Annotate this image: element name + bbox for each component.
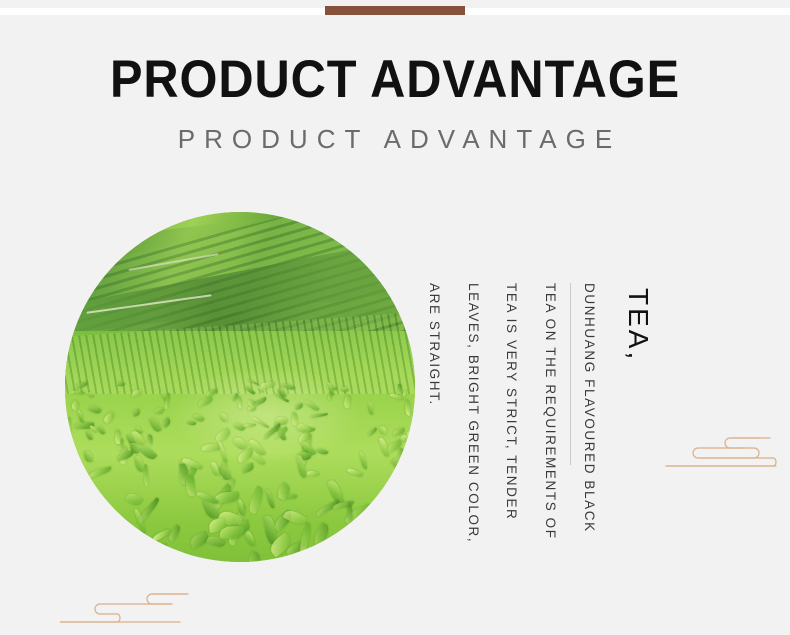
page-subtitle: PRODUCT ADVANTAGE: [0, 122, 790, 156]
top-band: [0, 0, 790, 22]
cloud-ornament-bottom-left: [60, 588, 192, 630]
tea-plantation-photo: [65, 212, 415, 562]
vertical-divider: [570, 283, 571, 465]
vertical-line-2: TEA ON THE REQUIREMENTS OF: [543, 283, 558, 540]
vertical-line-5: ARE STRAIGHT.: [427, 283, 442, 406]
vertical-heading-tea: TEA,: [622, 288, 654, 362]
vertical-line-4: LEAVES, BRIGHT GREEN COLOR,: [466, 283, 481, 543]
photo-leaf: [398, 384, 402, 394]
photo-leaf: [291, 412, 298, 426]
vertical-line-3: TEA IS VERY STRICT, TENDER: [504, 283, 519, 520]
cloud-ornament-right: [658, 428, 778, 470]
photo-leaf: [143, 463, 148, 485]
page-title: PRODUCT ADVANTAGE: [32, 50, 759, 110]
photo-leaf: [260, 381, 274, 387]
top-band-gray-lower: [0, 15, 790, 22]
vertical-line-1: DUNHUANG FLAVOURED BLACK: [582, 283, 597, 533]
photo-leaf: [155, 407, 164, 414]
top-accent-bar: [325, 6, 465, 15]
